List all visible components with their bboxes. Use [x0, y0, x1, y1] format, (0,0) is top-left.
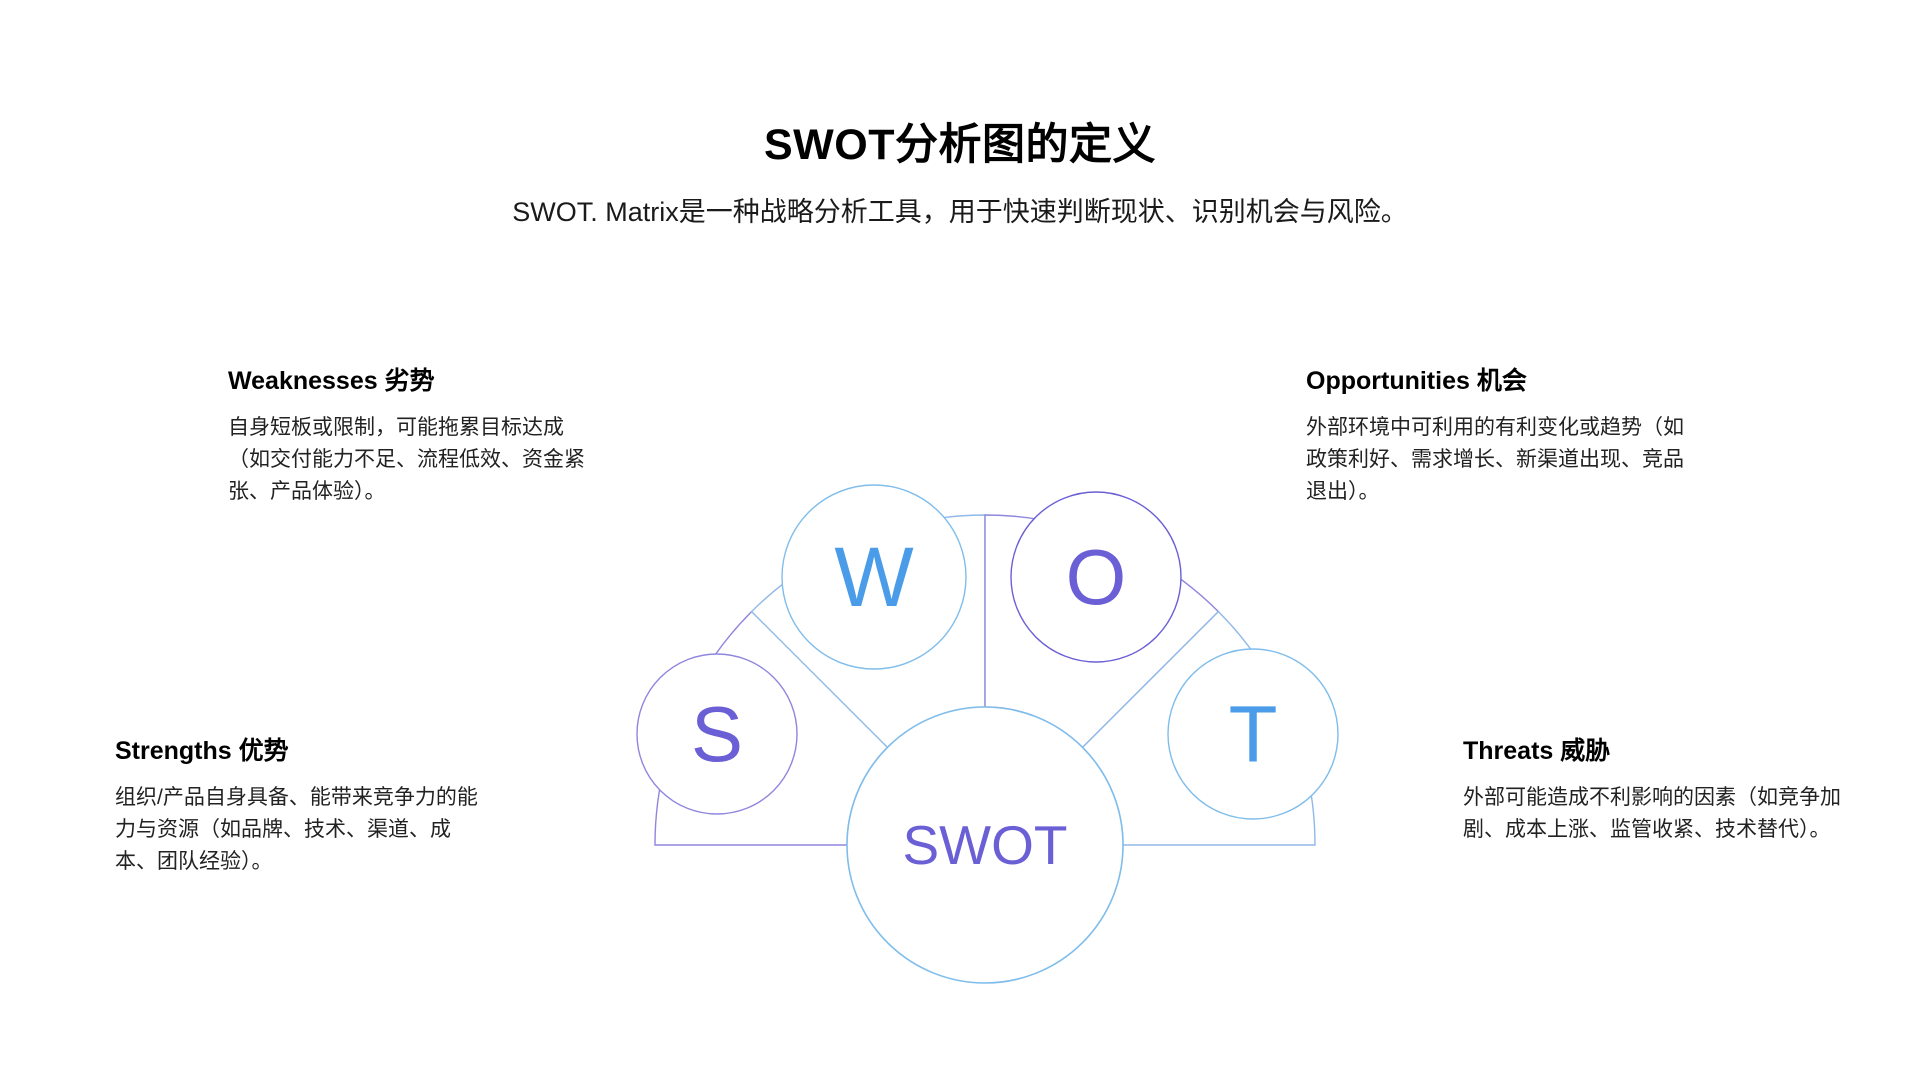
- callout-weaknesses[interactable]: Weaknesses 劣势 自身短板或限制，可能拖累目标达成（如交付能力不足、流…: [228, 366, 588, 508]
- callout-opportunities[interactable]: Opportunities 机会 外部环境中可利用的有利变化或趋势（如政策利好、…: [1306, 366, 1686, 508]
- swot-fan-diagram: S W O T SWOT: [0, 0, 1920, 1080]
- callout-strengths-heading: Strengths 优势: [115, 736, 490, 766]
- callout-weaknesses-heading: Weaknesses 劣势: [228, 366, 588, 396]
- callout-strengths-body: 组织/产品自身具备、能带来竞争力的能力与资源（如品牌、技术、渠道、成本、团队经验…: [115, 782, 490, 878]
- callout-threats-heading: Threats 威胁: [1463, 736, 1843, 766]
- center-hub[interactable]: SWOT: [847, 707, 1123, 983]
- center-hub-label: SWOT: [903, 814, 1068, 876]
- node-weaknesses[interactable]: W: [782, 485, 966, 669]
- node-opportunities[interactable]: O: [1011, 492, 1181, 662]
- node-opportunities-letter: O: [1066, 533, 1127, 621]
- node-strengths-letter: S: [691, 690, 743, 778]
- node-threats-letter: T: [1229, 690, 1278, 779]
- callout-threats-body: 外部可能造成不利影响的因素（如竞争加剧、成本上涨、监管收紧、技术替代）。: [1463, 782, 1843, 846]
- node-weaknesses-letter: W: [834, 530, 913, 624]
- node-threats[interactable]: T: [1168, 649, 1338, 819]
- slide-canvas: SWOT分析图的定义 SWOT. Matrix是一种战略分析工具，用于快速判断现…: [0, 0, 1920, 1080]
- callout-strengths[interactable]: Strengths 优势 组织/产品自身具备、能带来竞争力的能力与资源（如品牌、…: [115, 736, 490, 878]
- callout-threats[interactable]: Threats 威胁 外部可能造成不利影响的因素（如竞争加剧、成本上涨、监管收紧…: [1463, 736, 1843, 846]
- callout-weaknesses-body: 自身短板或限制，可能拖累目标达成（如交付能力不足、流程低效、资金紧张、产品体验）…: [228, 412, 588, 508]
- callout-opportunities-body: 外部环境中可利用的有利变化或趋势（如政策利好、需求增长、新渠道出现、竞品退出）。: [1306, 412, 1686, 508]
- swot-diagram-svg: S W O T SWOT: [0, 0, 1920, 1080]
- callout-opportunities-heading: Opportunities 机会: [1306, 366, 1686, 396]
- node-strengths[interactable]: S: [637, 654, 797, 814]
